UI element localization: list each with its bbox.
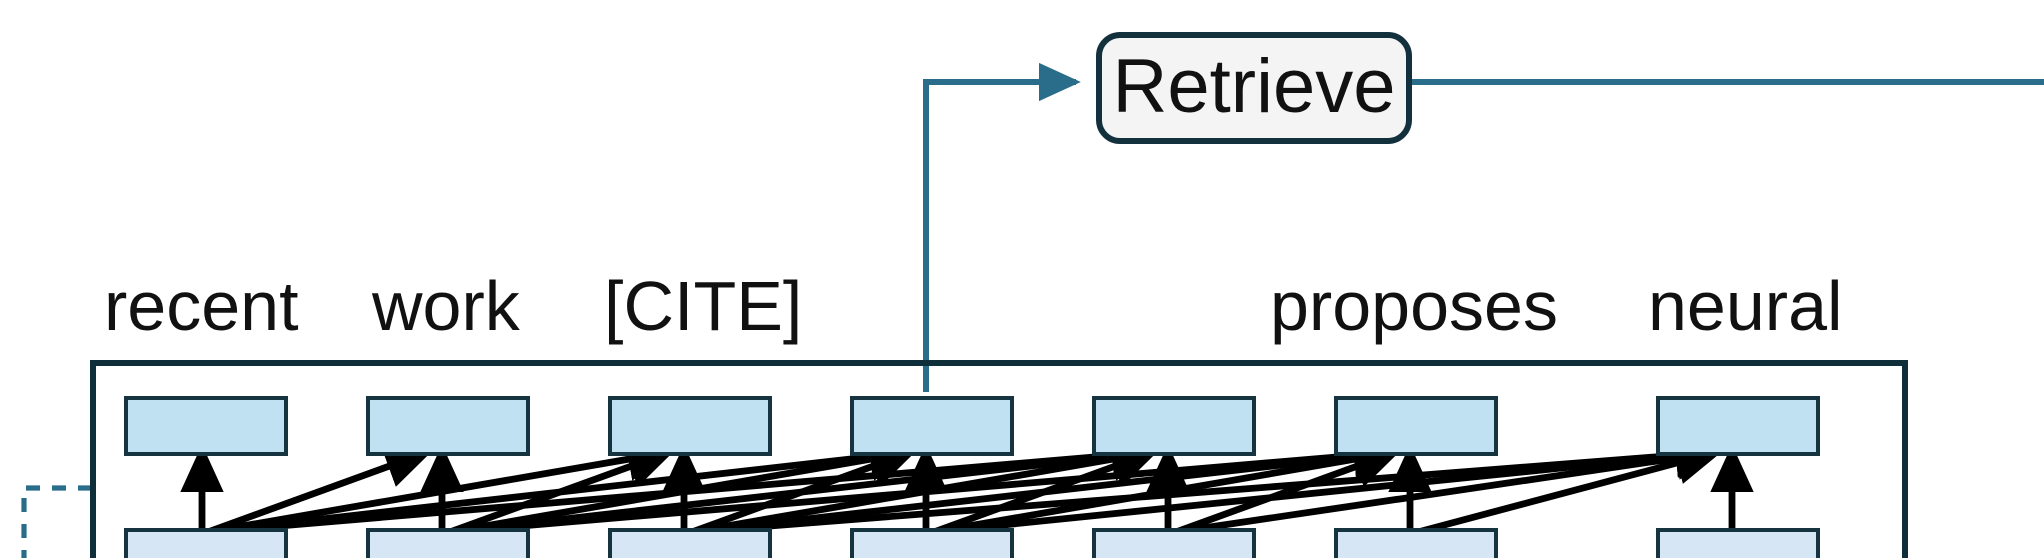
diagram-canvas: Retrieve recent work [CITE] proposes neu… [0,0,2044,558]
top-token-cite: [CITE] [604,272,802,342]
encoder-top-cell-7 [1656,396,1820,456]
encoder-bottom-cell-6 [1334,528,1498,558]
top-token-neural: neural [1648,272,1843,342]
top-token-proposes: proposes [1270,272,1558,342]
retrieve-box[interactable]: Retrieve [1096,32,1412,144]
encoder-top-cell-2 [366,396,530,456]
encoder-bottom-cell-7 [1656,528,1820,558]
encoder-top-cell-6 [1334,396,1498,456]
top-token-recent: recent [104,272,299,342]
encoder-bottom-cell-3 [608,528,772,558]
encoder-top-cell-4 [850,396,1014,456]
encoder-top-cell-1 [124,396,288,456]
encoder-top-cell-3 [608,396,772,456]
encoder-bottom-cell-1 [124,528,288,558]
retrieve-label: Retrieve [1113,45,1396,131]
encoder-bottom-cell-2 [366,528,530,558]
top-token-work: work [372,272,520,342]
encoder-bottom-cell-5 [1092,528,1256,558]
encoder-top-cell-5 [1092,396,1256,456]
encoder-bottom-cell-4 [850,528,1014,558]
